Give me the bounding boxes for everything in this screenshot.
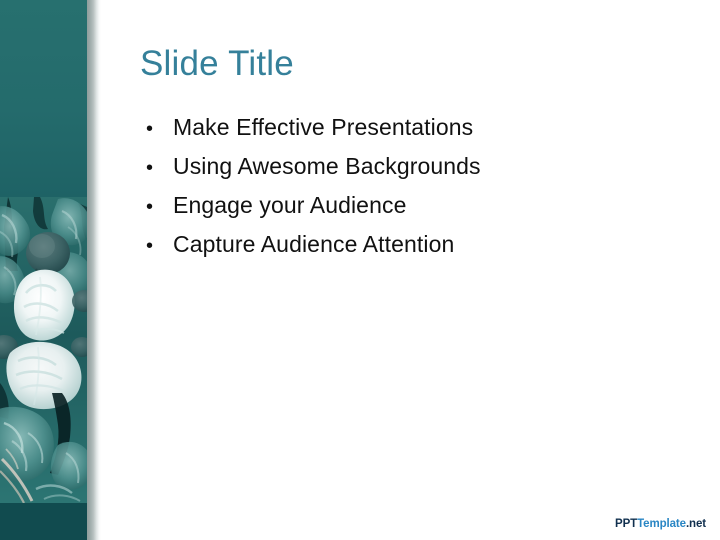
- logo-text-template: Template: [637, 518, 686, 530]
- logo-text-net: .net: [686, 518, 706, 530]
- list-item[interactable]: • Capture Audience Attention: [146, 231, 666, 270]
- list-item[interactable]: • Make Effective Presentations: [146, 114, 666, 153]
- microscopy-cells-photo: [0, 197, 87, 503]
- gradient-divider-strip: [87, 0, 101, 540]
- ppttemplate-logo[interactable]: PPTTemplate.net: [615, 518, 706, 530]
- bullet-dot-icon: •: [146, 197, 173, 217]
- slide-canvas: Slide Title • Make Effective Presentatio…: [0, 0, 720, 540]
- panel-teal-fill-bottom: [0, 503, 87, 540]
- left-decorative-panel: [0, 0, 87, 540]
- list-item[interactable]: • Using Awesome Backgrounds: [146, 153, 666, 192]
- bullet-dot-icon: •: [146, 236, 173, 256]
- bullet-dot-icon: •: [146, 158, 173, 178]
- list-item-label: Make Effective Presentations: [173, 114, 473, 141]
- bullet-dot-icon: •: [146, 119, 173, 139]
- list-item-label: Engage your Audience: [173, 192, 406, 219]
- list-item-label: Using Awesome Backgrounds: [173, 153, 481, 180]
- list-item-label: Capture Audience Attention: [173, 231, 454, 258]
- bullet-list: • Make Effective Presentations • Using A…: [146, 114, 666, 270]
- panel-teal-fill-top: [0, 0, 87, 198]
- list-item[interactable]: • Engage your Audience: [146, 192, 666, 231]
- page-title[interactable]: Slide Title: [140, 44, 294, 84]
- logo-text-ppt: PPT: [615, 518, 637, 530]
